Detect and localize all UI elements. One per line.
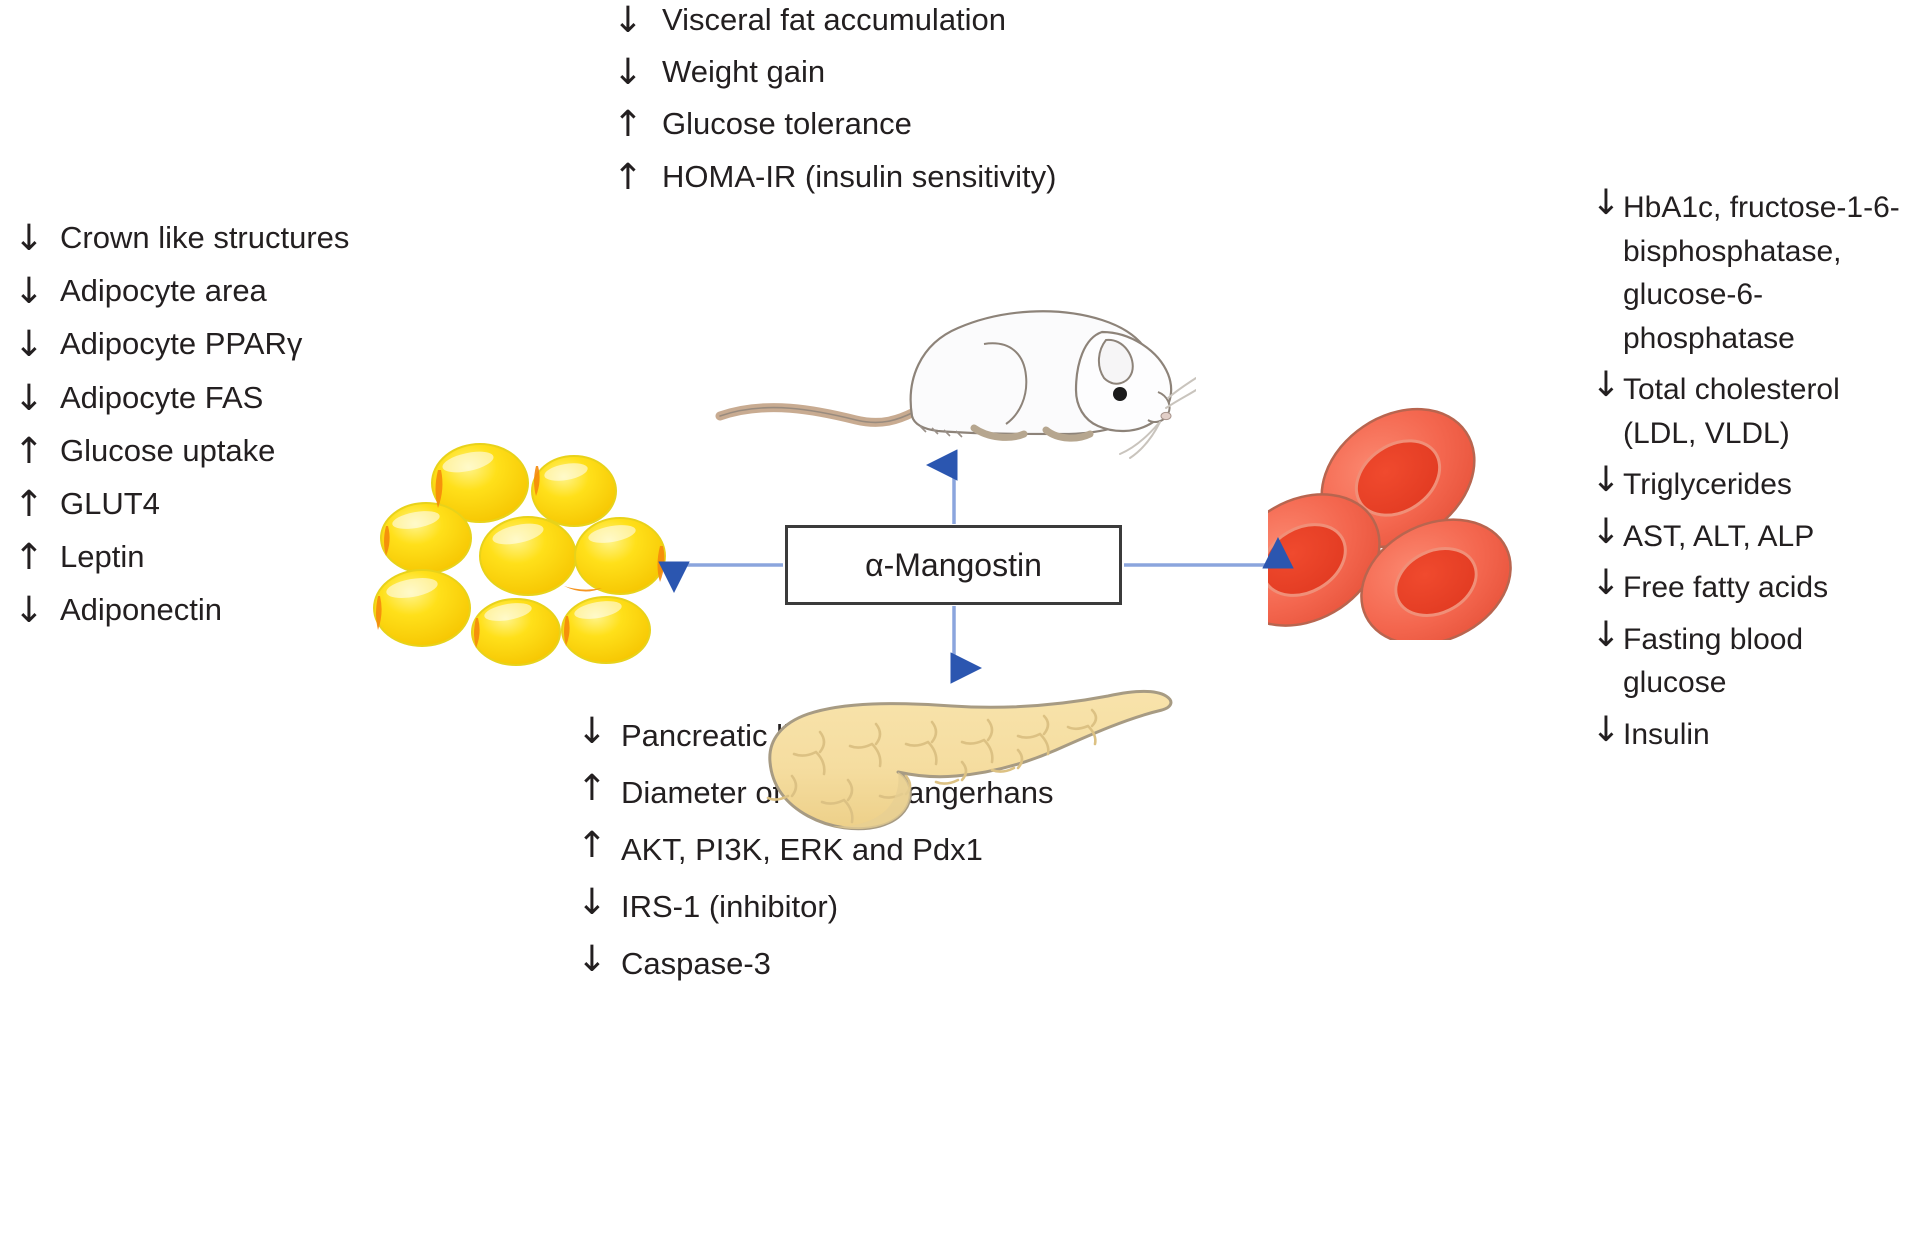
connector-arrows [0,0,1913,1236]
center-node-label: α-Mangostin [865,547,1042,584]
center-node-alpha-mangostin: α-Mangostin [785,525,1122,605]
